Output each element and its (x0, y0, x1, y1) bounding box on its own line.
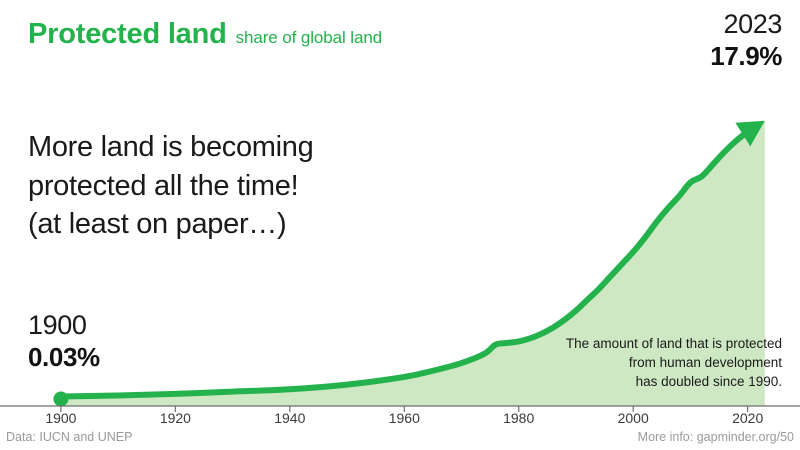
chart-header: Protected land share of global land (28, 18, 382, 51)
chart-start-dot (53, 392, 68, 407)
x-axis-tick-marks (61, 406, 748, 412)
chart-note-line-3: has doubled since 1990. (492, 373, 782, 392)
end-value-label: 17.9% (710, 40, 782, 73)
chart-subtitle: share of global land (236, 28, 382, 48)
chart-note-line-1: The amount of land that is protected (492, 335, 782, 354)
chart-note-line-2: from human development (492, 354, 782, 373)
headline-message: More land is becoming protected all the … (28, 128, 313, 244)
end-year-label: 2023 (710, 10, 782, 40)
start-year-label: 1900 (28, 311, 100, 341)
headline-line-3: (at least on paper…) (28, 205, 313, 244)
end-annotation: 2023 17.9% (710, 10, 782, 72)
chart-note: The amount of land that is protected fro… (492, 335, 782, 392)
data-source-label: Data: IUCN and UNEP (6, 430, 132, 444)
headline-line-2: protected all the time! (28, 167, 313, 206)
chart-page: 1900192019401960198020002020 Protected l… (0, 0, 800, 450)
more-info-label[interactable]: More info: gapminder.org/50 (638, 430, 794, 444)
headline-line-1: More land is becoming (28, 128, 313, 167)
start-annotation: 1900 0.03% (28, 311, 100, 373)
page-title: Protected land (28, 18, 227, 51)
start-value-label: 0.03% (28, 341, 100, 374)
